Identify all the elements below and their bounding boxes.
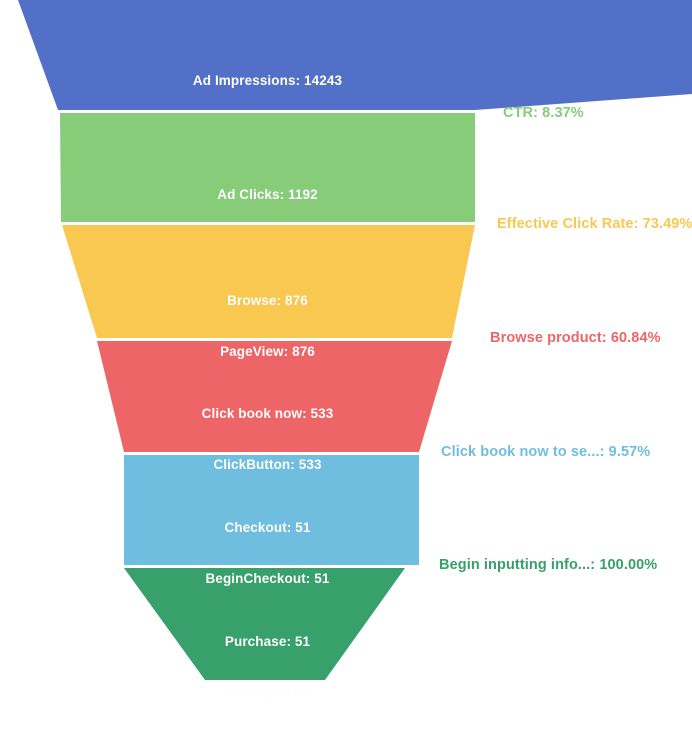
funnel-segment-click-book-now[interactable] bbox=[97, 341, 452, 452]
conversion-label-click-book-now-to-select: Click book now to se...: 9.57% bbox=[441, 443, 650, 461]
conversion-label-browse-product: Browse product: 60.84% bbox=[490, 329, 661, 347]
conversion-label-effective-click-rate: Effective Click Rate: 73.49% bbox=[497, 215, 692, 233]
funnel-chart: Ad Impressions: 14243 Ad Clicks: 1192 Br… bbox=[0, 0, 692, 683]
segment-label-line2: Purchase: 51 bbox=[120, 684, 415, 701]
funnel-segment-checkout[interactable] bbox=[124, 455, 419, 565]
funnel-segment-browse[interactable] bbox=[62, 225, 475, 338]
funnel-segment-ad-impressions[interactable] bbox=[18, 0, 692, 110]
conversion-label-begin-inputting-info: Begin inputting info...: 100.00% bbox=[439, 556, 657, 574]
funnel-segment-purchase[interactable] bbox=[124, 568, 405, 680]
conversion-label-ctr: CTR: 8.37% bbox=[503, 104, 584, 122]
funnel-segment-ad-clicks[interactable] bbox=[60, 113, 475, 222]
